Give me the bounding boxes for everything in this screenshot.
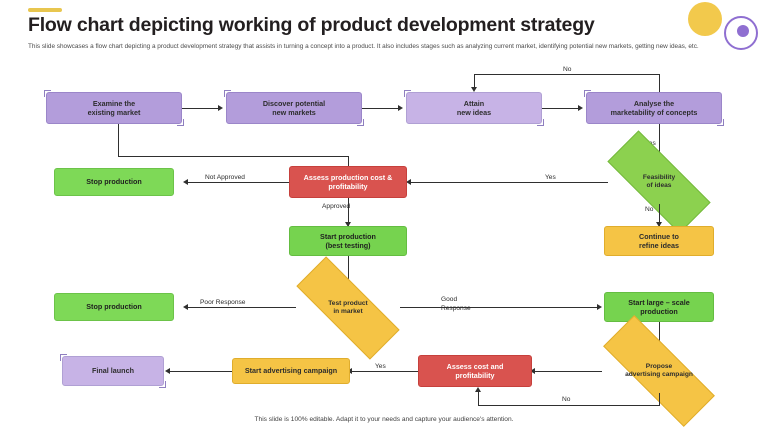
page-subtitle: This slide showcases a flow chart depict… — [28, 42, 744, 52]
edge-label-no-bottom: No — [562, 396, 570, 403]
node-final-launch[interactable]: Final launch — [62, 356, 164, 386]
edge-label-poor-response: Poor Response — [200, 299, 245, 306]
edge-examine-bracket-right — [118, 156, 348, 157]
edge-examine-bracket-down — [118, 124, 119, 156]
arrow-assess-to-stop1 — [183, 179, 188, 185]
node-stop-production-2[interactable]: Stop production — [54, 293, 174, 321]
node-start-production[interactable]: Start production(best testing) — [289, 226, 407, 256]
page-title: Flow chart depicting working of product … — [28, 14, 718, 37]
node-discover-markets[interactable]: Discover potentialnew markets — [226, 92, 362, 124]
edge-test-to-stop2 — [188, 307, 296, 308]
node-assess-production-cost[interactable]: Assess production cost &profitability — [289, 166, 407, 198]
edge-label-no-top: No — [563, 66, 571, 73]
node-attain-ideas[interactable]: Attainnew ideas — [406, 92, 542, 124]
arrow-test-to-large-scale — [597, 304, 602, 310]
edge-label-not-approved: Not Approved — [205, 174, 245, 181]
edge-label-yes-campaign: Yes — [375, 363, 386, 370]
edge-propose-no-left — [478, 405, 660, 406]
node-stop-production-1[interactable]: Stop production — [54, 168, 174, 196]
arrow-test-to-stop2 — [183, 304, 188, 310]
edge-propose-no-down — [659, 393, 660, 405]
edge-attain-to-analyse — [542, 108, 581, 109]
node-continue-refine[interactable]: Continue torefine ideas — [604, 226, 714, 256]
edge-label-yes-to-assess: Yes — [545, 174, 556, 181]
edge-assess-to-stop1 — [188, 182, 289, 183]
edge-assess-cost-to-advertising — [352, 371, 418, 372]
edge-label-approved: Approved — [322, 203, 350, 210]
edge-refine-loop-left — [474, 74, 660, 75]
node-start-advertising[interactable]: Start advertising campaign — [232, 358, 350, 384]
edge-refine-loop-up — [659, 74, 660, 92]
edge-feasibility-to-assess — [411, 182, 608, 183]
edge-advertising-to-final — [170, 371, 232, 372]
node-assess-cost[interactable]: Assess cost andprofitability — [418, 355, 532, 387]
arrow-discover-to-attain — [398, 105, 403, 111]
edge-examine-to-discover — [182, 108, 221, 109]
edge-propose-no-up — [478, 392, 479, 405]
edge-label-good-response-line1: Good — [441, 296, 457, 303]
edge-label-no-feasibility: No — [645, 206, 653, 213]
arrow-examine-to-discover — [218, 105, 223, 111]
node-test-product[interactable]: Test productin market — [296, 287, 400, 329]
node-propose-campaign-label: Proposeadvertising campaign — [623, 363, 695, 379]
arrow-advertising-to-final — [165, 368, 170, 374]
edge-propose-to-assess-cost — [535, 371, 602, 372]
node-propose-campaign[interactable]: Proposeadvertising campaign — [602, 349, 716, 393]
edge-discover-to-attain — [362, 108, 401, 109]
edge-refine-loop-down — [474, 74, 475, 88]
arrow-propose-no-into-assess-cost — [475, 387, 481, 392]
node-analyse-marketability[interactable]: Analyse themarketability of concepts — [586, 92, 722, 124]
node-examine-market[interactable]: Examine theexisting market — [46, 92, 182, 124]
footer-note: This slide is 100% editable. Adapt it to… — [0, 416, 768, 423]
node-feasibility-label: Feasibilityof ideas — [641, 174, 677, 190]
arrow-attain-to-analyse — [578, 105, 583, 111]
edge-label-good-response-line2: Response — [441, 305, 471, 312]
node-start-large-scale[interactable]: Start large – scaleproduction — [604, 292, 714, 322]
node-feasibility[interactable]: Feasibilityof ideas — [608, 160, 710, 204]
decorative-ring-inner-dot — [737, 25, 749, 37]
slide-root: Flow chart depicting working of product … — [0, 0, 768, 432]
edge-test-to-large-scale — [400, 307, 600, 308]
arrow-refine-loop-into-attain — [471, 87, 477, 92]
edge-examine-bracket-into-assess — [348, 156, 349, 166]
node-test-product-label: Test productin market — [326, 300, 369, 316]
accent-bar — [28, 8, 62, 12]
edge-label-good-response: Good Response — [441, 296, 471, 313]
